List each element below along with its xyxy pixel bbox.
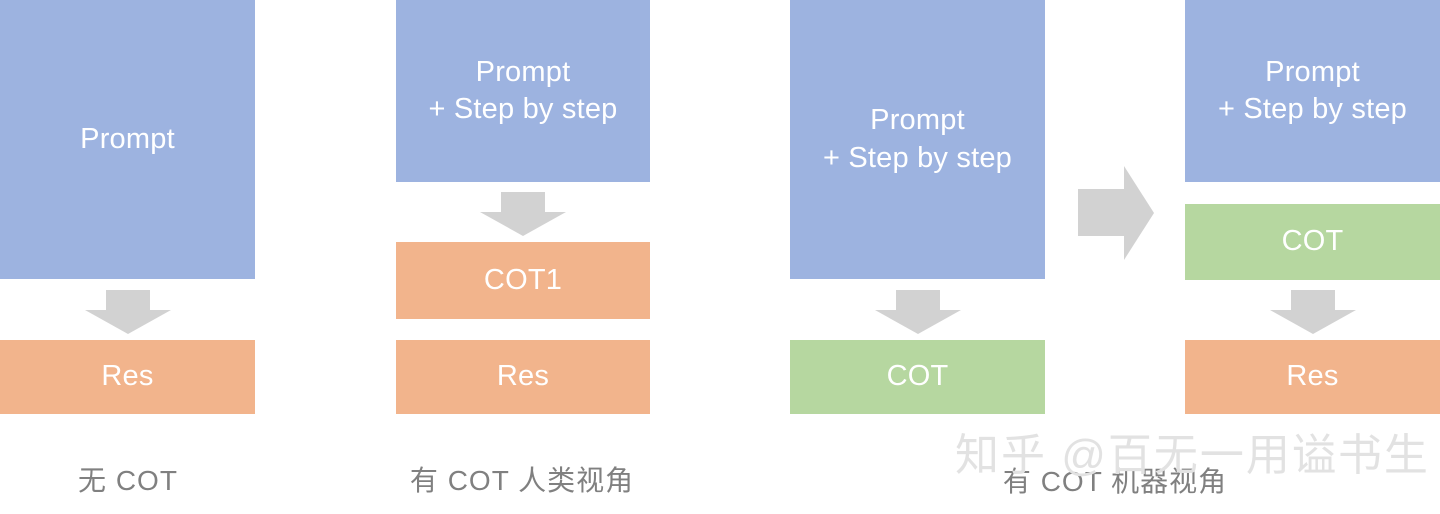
arrow-shaft bbox=[1078, 189, 1126, 236]
arrow-shaft bbox=[501, 192, 545, 214]
arrow-head bbox=[1124, 166, 1154, 260]
arrow-head bbox=[480, 212, 566, 236]
caption-col2: 有 COT 人类视角 bbox=[410, 459, 634, 499]
box-res-col1: Res bbox=[0, 340, 255, 414]
box-cot-col4: COT bbox=[1185, 204, 1440, 280]
arrow-shaft bbox=[896, 290, 940, 312]
diagram-canvas: Prompt Res 无 COT Prompt + Step by step C… bbox=[0, 0, 1440, 514]
caption-col3: 有 COT 机器视角 bbox=[1003, 460, 1227, 500]
arrow-down-icon-col1 bbox=[85, 290, 171, 334]
box-prompt-step-col3: Prompt + Step by step bbox=[790, 0, 1045, 279]
arrow-head bbox=[85, 310, 171, 334]
arrow-shaft bbox=[1291, 290, 1335, 312]
box-prompt-col1: Prompt bbox=[0, 0, 255, 279]
box-res-col4: Res bbox=[1185, 340, 1440, 414]
box-prompt-step-col4: Prompt + Step by step bbox=[1185, 0, 1440, 182]
box-res-col2: Res bbox=[396, 340, 650, 414]
arrow-head bbox=[875, 310, 961, 334]
arrow-right-icon bbox=[1078, 166, 1156, 260]
arrow-head bbox=[1270, 310, 1356, 334]
arrow-shaft bbox=[106, 290, 150, 312]
arrow-down-icon-col4 bbox=[1270, 290, 1356, 334]
box-cot-col3: COT bbox=[790, 340, 1045, 414]
caption-col1: 无 COT bbox=[78, 459, 178, 499]
box-prompt-step-col2: Prompt + Step by step bbox=[396, 0, 650, 182]
arrow-down-icon-col3 bbox=[875, 290, 961, 334]
arrow-down-icon-col2 bbox=[480, 192, 566, 236]
box-cot1-col2: COT1 bbox=[396, 242, 650, 319]
